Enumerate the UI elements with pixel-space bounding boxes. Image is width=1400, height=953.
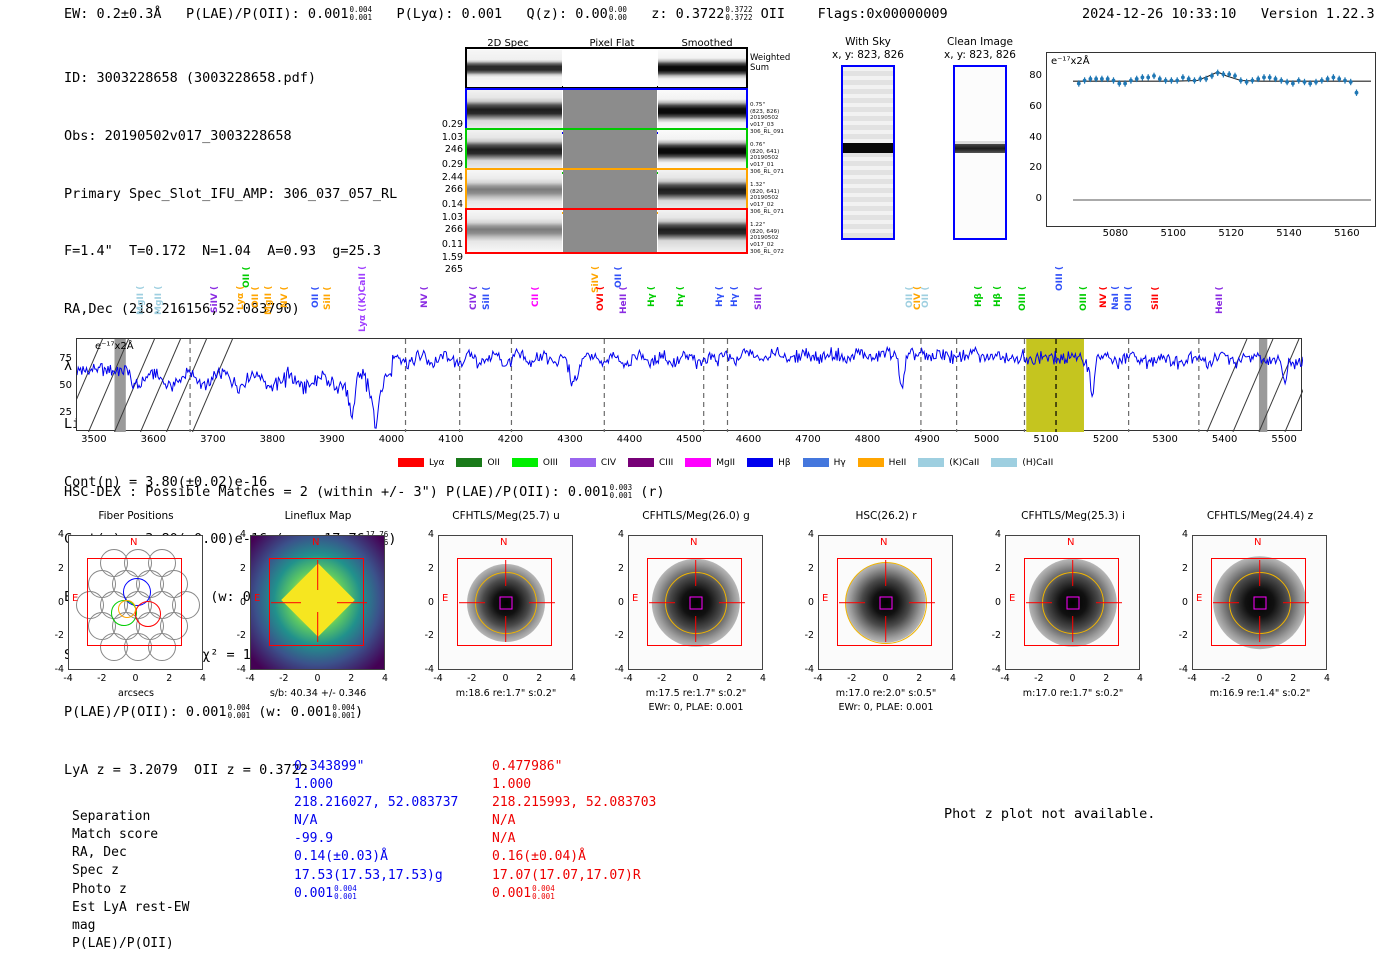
legend-swatch xyxy=(456,458,482,467)
spectrum-line-label: OIII ( xyxy=(1079,286,1089,336)
cutout-image-0[interactable] xyxy=(68,535,203,670)
header-plae: P(LAE)/P(OII): 0.001 xyxy=(186,6,349,22)
cutout-xtick: 4 xyxy=(559,673,587,684)
cutout-xtick: 2 xyxy=(1279,673,1307,684)
match-row-value: -99.9 xyxy=(294,830,458,848)
cutout-ytick: -4 xyxy=(228,664,246,675)
legend-label: Hγ xyxy=(834,458,846,468)
cutout-xtick: 0 xyxy=(492,673,520,684)
fiber-panel-4 xyxy=(465,208,748,254)
cutout-ytick: -4 xyxy=(606,664,624,675)
spectrum-ytick: 25 xyxy=(50,407,72,418)
spectrum-line-label: MgII ( xyxy=(264,286,274,336)
cutout-caption-1: arcsecs xyxy=(43,688,229,699)
match-row-value: N/A xyxy=(492,830,656,848)
legend-label: MgII xyxy=(716,458,735,468)
spectrum-line-label: MgII ( xyxy=(136,286,146,336)
mini-ytick: 0 xyxy=(1020,193,1042,204)
cutout-xtick: -2 xyxy=(88,673,116,684)
cutout-xtick: 0 xyxy=(1246,673,1274,684)
match-table: SeparationMatch scoreRA, DecSpec zPhoto … xyxy=(72,772,80,844)
spectrum-line-label: OII ( xyxy=(251,286,261,336)
spectrum-line-label: NaI ( xyxy=(1111,286,1121,336)
cleanimage-title: Clean Image xyxy=(930,36,1030,48)
match-row-label: Photo z xyxy=(72,881,292,899)
compass-north: N xyxy=(500,537,507,548)
cutout-xtick: 4 xyxy=(371,673,399,684)
spectrum-line-label: CII ( xyxy=(531,286,541,336)
cutout-ytick: -4 xyxy=(796,664,814,675)
cutout-xtick: 0 xyxy=(304,673,332,684)
legend-swatch xyxy=(628,458,654,467)
hscdex-line: HSC-DEX : Possible Matches = 2 (within +… xyxy=(64,484,665,500)
header-timestamp-version: 2024-12-26 10:33:10 Version 1.22.3 xyxy=(1082,6,1375,22)
legend-item: HeII xyxy=(858,458,907,468)
cleanimage-coords: x, y: 823, 826 xyxy=(930,49,1030,61)
cutout-xtick: 0 xyxy=(682,673,710,684)
spectrum-line-label: NV ( xyxy=(280,286,290,336)
spectrum-xtick: 3500 xyxy=(74,434,114,445)
cutout-xtick: -2 xyxy=(458,673,486,684)
cutout-ytick: 2 xyxy=(1170,563,1188,574)
compass-east: E xyxy=(1009,593,1015,604)
spectrum-ytick: 50 xyxy=(50,380,72,391)
spectrum-xtick: 5000 xyxy=(967,434,1007,445)
cutout-ytick: 0 xyxy=(46,597,64,608)
cutout-xtick: 4 xyxy=(939,673,967,684)
cutout-xtick: 2 xyxy=(1092,673,1120,684)
cutout-title: CFHTLS/Meg(25.3) i xyxy=(983,510,1163,522)
cutout-ytick: -2 xyxy=(796,630,814,641)
match-row-value: N/A xyxy=(492,812,656,830)
mini-ytick: 80 xyxy=(1020,70,1042,81)
match-table-labels: SeparationMatch scoreRA, DecSpec zPhoto … xyxy=(72,808,292,953)
legend-swatch xyxy=(858,458,884,467)
cutout-xtick: 2 xyxy=(905,673,933,684)
cutout-xtick: 4 xyxy=(1126,673,1154,684)
cutout-title: CFHTLS/Meg(26.0) g xyxy=(606,510,786,522)
cutout-image-3[interactable] xyxy=(628,535,763,670)
legend-label: CIII xyxy=(659,458,673,468)
version-label: Version 1.22.3 xyxy=(1261,6,1375,22)
spectrum-line-label: Hβ ( xyxy=(974,286,984,336)
info-primary-spec: Primary Spec_Slot_IFU_AMP: 306_037_057_R… xyxy=(64,185,397,204)
cutout-ytick: -4 xyxy=(416,664,434,675)
spectrum-xtick: 4900 xyxy=(907,434,947,445)
spectrum-line-label: SiII ( xyxy=(754,286,764,336)
match-row-label: Match score xyxy=(72,826,292,844)
compass-east: E xyxy=(254,593,260,604)
legend-label: OII xyxy=(487,458,499,468)
header-qz-errors: 0.000.00 xyxy=(609,6,627,22)
cutout-ytick: 4 xyxy=(228,529,246,540)
cutout-title: Fiber Positions xyxy=(46,510,226,522)
mini-ytick: 20 xyxy=(1020,162,1042,173)
match-row-value: 218.215993, 52.083703 xyxy=(492,794,656,812)
spectrum-ytick: 75 xyxy=(50,353,72,364)
legend-label: Hβ xyxy=(778,458,791,468)
spectrum-xtick: 4000 xyxy=(371,434,411,445)
spectrum-line-label: SiIV ( xyxy=(210,286,220,336)
legend-item: (K)CaII xyxy=(918,458,979,468)
match-row-value: 0.0010.0040.001 xyxy=(492,885,656,903)
cutout-ytick: 0 xyxy=(1170,597,1188,608)
match-row-value: 0.343899" xyxy=(294,758,458,776)
match-row-value: 218.216027, 52.083737 xyxy=(294,794,458,812)
cutout-ytick: 0 xyxy=(983,597,1001,608)
mini-xtick: 5120 xyxy=(1214,228,1248,239)
legend-swatch xyxy=(991,458,1017,467)
spectrum-line-label: Hβ ( xyxy=(993,286,1003,336)
cutout-ytick: 0 xyxy=(228,597,246,608)
cutout-title: CFHTLS/Meg(25.7) u xyxy=(416,510,596,522)
spectrum-line-label: Hγ ( xyxy=(730,286,740,336)
withsky-coords: x, y: 823, 826 xyxy=(820,49,916,61)
mini-ytick: 60 xyxy=(1020,101,1042,112)
spectrum-line-label: OIII ( xyxy=(1055,266,1065,336)
cutout-ytick: 2 xyxy=(983,563,1001,574)
spectrum-line-label: OIII ( xyxy=(1018,286,1028,336)
spectrum-legend: LyαOIIOIIICIVCIIIMgIIHβHγHeII(K)CaII(H)C… xyxy=(398,452,1065,471)
cutout-ytick: 2 xyxy=(796,563,814,574)
mini-ytick: 40 xyxy=(1020,132,1042,143)
cutout-ytick: 0 xyxy=(796,597,814,608)
cutout-ytick: -2 xyxy=(606,630,624,641)
cutout-ytick: -4 xyxy=(46,664,64,675)
spectrum-line-label: CIV ( xyxy=(469,286,479,336)
compass-north: N xyxy=(312,537,319,548)
header-summary-line: EW: 0.2±0.3Å P(LAE)/P(OII): 0.0010.0040.… xyxy=(64,6,948,22)
spectrum-xtick: 4300 xyxy=(550,434,590,445)
spectrum-line-label: SiII ( xyxy=(482,286,492,336)
cutout-ytick: -2 xyxy=(1170,630,1188,641)
legend-label: HeII xyxy=(889,458,907,468)
cutout-caption-1: m:16.9 re:1.4" s:0.2" xyxy=(1167,688,1353,699)
cutout-ytick: 4 xyxy=(796,529,814,540)
cutout-xtick: -2 xyxy=(1212,673,1240,684)
match-row-value: 0.16(±0.04)Å xyxy=(492,848,656,866)
cutout-ytick: 2 xyxy=(46,563,64,574)
legend-label: CIV xyxy=(601,458,616,468)
spectrum-xtick: 4200 xyxy=(490,434,530,445)
cutout-image-2[interactable] xyxy=(438,535,573,670)
compass-east: E xyxy=(72,593,78,604)
spectrum-line-label: OII ( xyxy=(921,286,931,336)
info-plae: P(LAE)/P(OII): 0.0010.0040.001 (w: 0.001… xyxy=(64,703,397,722)
compass-east: E xyxy=(1196,593,1202,604)
line-profile-chart: e⁻¹⁷x2Å xyxy=(1046,52,1376,227)
spectrum-line-label: OVI ( xyxy=(596,286,606,336)
legend-swatch xyxy=(685,458,711,467)
cutout-caption-1: m:17.5 re:1.7" s:0.2" xyxy=(603,688,789,699)
spectrum-xtick: 3600 xyxy=(133,434,173,445)
fiber-4-numbers: 0.111.59265 xyxy=(435,214,463,277)
match-table-blue-column: 0.343899"1.000218.216027, 52.083737N/A-9… xyxy=(294,758,458,903)
cutout-ytick: 0 xyxy=(416,597,434,608)
match-row-label: Est LyA rest-EW xyxy=(72,899,292,917)
match-row-value: 17.07(17.07,17.07)R xyxy=(492,867,656,885)
weighted-sum-label: WeightedSum xyxy=(750,53,790,73)
match-row-label: P(LAE)/P(OII) xyxy=(72,935,292,953)
legend-swatch xyxy=(747,458,773,467)
fiber-4-side-label: 1.22"(820, 649)20190502v017_02306_RL_072 xyxy=(750,209,784,255)
legend-item: Lyα xyxy=(398,458,444,468)
match-row-value: 0.0010.0040.001 xyxy=(294,885,458,903)
info-obs: Obs: 20190502v017_3003228658 xyxy=(64,127,397,146)
cutout-ytick: -2 xyxy=(983,630,1001,641)
header-plya: P(Lyα): 0.001 xyxy=(396,6,502,22)
header-flags: Flags:0x00000009 xyxy=(818,6,948,22)
legend-label: (K)CaII xyxy=(949,458,979,468)
info-radec: RA,Dec (218.216156,52.083790) xyxy=(64,300,397,319)
spectrum-line-label: MgII ( xyxy=(154,286,164,336)
legend-swatch xyxy=(918,458,944,467)
legend-item: OII xyxy=(456,458,499,468)
match-row-value: 1.000 xyxy=(492,776,656,794)
legend-item: CIII xyxy=(628,458,673,468)
compass-east: E xyxy=(442,593,448,604)
legend-swatch xyxy=(398,458,424,467)
cutout-ytick: 4 xyxy=(606,529,624,540)
cutout-caption-1: m:17.0 re:2.0" s:0.5" xyxy=(793,688,979,699)
timestamp: 2024-12-26 10:33:10 xyxy=(1082,6,1236,22)
compass-north: N xyxy=(130,537,137,548)
compass-north: N xyxy=(1254,537,1261,548)
cutout-ytick: 2 xyxy=(228,563,246,574)
cutout-ytick: -4 xyxy=(1170,664,1188,675)
withsky-image xyxy=(841,65,895,240)
match-row-label: Separation xyxy=(72,808,292,826)
legend-item: MgII xyxy=(685,458,735,468)
cutout-caption-2: EWr: 0, PLAE: 0.001 xyxy=(603,702,789,713)
withsky-title: With Sky xyxy=(820,36,916,48)
cutout-ytick: 4 xyxy=(416,529,434,540)
legend-label: (H)CaII xyxy=(1022,458,1053,468)
cutout-ytick: -2 xyxy=(416,630,434,641)
cutout-xtick: 2 xyxy=(337,673,365,684)
legend-label: OIII xyxy=(543,458,558,468)
header-ztype: OII xyxy=(761,6,785,22)
match-row-value: 17.53(17.53,17.53)g xyxy=(294,867,458,885)
spectrum-xtick: 4700 xyxy=(788,434,828,445)
legend-swatch xyxy=(570,458,596,467)
legend-item: Hβ xyxy=(747,458,791,468)
legend-item: OIII xyxy=(512,458,558,468)
spectrum-line-label: Hγ ( xyxy=(647,286,657,336)
cutout-image-4[interactable] xyxy=(818,535,953,670)
spectrum-xtick: 5100 xyxy=(1026,434,1066,445)
cutout-caption-1: m:17.0 re:1.7" s:0.2" xyxy=(980,688,1166,699)
spectrum-line-label: HeII ( xyxy=(619,286,629,336)
photoz-note: Phot z plot not available. xyxy=(944,806,1155,822)
info-id: ID: 3003228658 (3003228658.pdf) xyxy=(64,69,397,88)
spectrum-xtick: 5300 xyxy=(1145,434,1185,445)
spectrum-xtick: 4100 xyxy=(431,434,471,445)
header-plae-errors: 0.0040.001 xyxy=(350,6,373,22)
cutout-ytick: -4 xyxy=(983,664,1001,675)
spectrum-xtick: 5400 xyxy=(1205,434,1245,445)
match-table-red-column: 0.477986"1.000218.215993, 52.083703N/AN/… xyxy=(492,758,656,903)
cutout-xtick: 0 xyxy=(122,673,150,684)
spectrum-line-label: NV ( xyxy=(420,286,430,336)
match-row-value: N/A xyxy=(294,812,458,830)
cutout-title: Lineflux Map xyxy=(228,510,408,522)
spectrum-line-label: OII ( xyxy=(311,286,321,336)
cutout-xtick: -2 xyxy=(270,673,298,684)
legend-item: (H)CaII xyxy=(991,458,1053,468)
cutout-ytick: 4 xyxy=(46,529,64,540)
header-z-errors: 0.37220.3722 xyxy=(725,6,752,22)
mini-chart-ylabel: e⁻¹⁷x2Å xyxy=(1051,56,1090,67)
spectrum-line-label: Hγ ( xyxy=(715,286,725,336)
full-spectrum-chart xyxy=(76,338,1302,431)
match-row-label: Spec z xyxy=(72,862,292,880)
cutout-caption-1: s/b: 40.34 +/- 0.346 xyxy=(225,688,411,699)
cutout-title: CFHTLS/Meg(24.4) z xyxy=(1170,510,1350,522)
cutout-ytick: 4 xyxy=(1170,529,1188,540)
mini-xtick: 5160 xyxy=(1330,228,1364,239)
cutout-image-1[interactable] xyxy=(250,535,385,670)
legend-swatch xyxy=(803,458,829,467)
cutout-xtick: 0 xyxy=(1059,673,1087,684)
cutout-xtick: 2 xyxy=(715,673,743,684)
spectrum-line-label: Lyα ((K)CaII ( xyxy=(358,266,368,336)
cutout-ytick: -2 xyxy=(46,630,64,641)
spectrum-xtick: 3800 xyxy=(252,434,292,445)
cutout-xtick: 2 xyxy=(525,673,553,684)
match-row-label: RA, Dec xyxy=(72,844,292,862)
weighted-sum-row xyxy=(465,47,748,88)
cutout-ytick: 4 xyxy=(983,529,1001,540)
spectrum-xtick: 3700 xyxy=(193,434,233,445)
spectrum-xtick: 4500 xyxy=(669,434,709,445)
mini-xtick: 5100 xyxy=(1156,228,1190,239)
spectrum-line-label: NV ( xyxy=(1099,286,1109,336)
spectrum-ylabel: e⁻¹⁷x2Å xyxy=(95,341,134,352)
legend-item: Hγ xyxy=(803,458,846,468)
legend-label: Lyα xyxy=(429,458,444,468)
spectrum-xtick: 5200 xyxy=(1086,434,1126,445)
header-z: z: 0.3722 xyxy=(651,6,724,22)
compass-east: E xyxy=(822,593,828,604)
cutout-ytick: 2 xyxy=(606,563,624,574)
cutout-xtick: 4 xyxy=(1313,673,1341,684)
spectrum-line-label: SiII ( xyxy=(1151,286,1161,336)
spectrum-line-label: Hγ ( xyxy=(676,286,686,336)
compass-north: N xyxy=(1067,537,1074,548)
spectrum-line-label: HeII ( xyxy=(1215,286,1225,336)
info-seeing: F=1.4" T=0.172 N=1.04 A=0.93 g=25.3 xyxy=(64,242,397,261)
cutout-image-5[interactable] xyxy=(1005,535,1140,670)
cutout-ytick: 0 xyxy=(606,597,624,608)
compass-north: N xyxy=(880,537,887,548)
spectrum-line-label: Lyα ( xyxy=(236,286,246,336)
cutout-xtick: 0 xyxy=(872,673,900,684)
cutout-caption-2: EWr: 0, PLAE: 0.001 xyxy=(793,702,979,713)
cutout-image-6[interactable] xyxy=(1192,535,1327,670)
spectrum-xtick: 4400 xyxy=(609,434,649,445)
mini-xtick: 5140 xyxy=(1272,228,1306,239)
spectrum-xtick: 3900 xyxy=(312,434,352,445)
cutout-xtick: 4 xyxy=(749,673,777,684)
cutout-ytick: 2 xyxy=(416,563,434,574)
spectrum-xtick: 4600 xyxy=(729,434,769,445)
header-ew: EW: 0.2±0.3Å xyxy=(64,6,162,22)
cutout-xtick: 4 xyxy=(189,673,217,684)
compass-north: N xyxy=(690,537,697,548)
header-qz: Q(z): 0.00 xyxy=(527,6,608,22)
legend-swatch xyxy=(512,458,538,467)
cutout-caption-1: m:18.6 re:1.7" s:0.2" xyxy=(413,688,599,699)
cutout-title: HSC(26.2) r xyxy=(796,510,976,522)
mini-xtick: 5080 xyxy=(1098,228,1132,239)
legend-item: CIV xyxy=(570,458,616,468)
spectrum-line-label: SiII ( xyxy=(323,286,333,336)
cutout-ytick: -2 xyxy=(228,630,246,641)
match-row-value: 0.477986" xyxy=(492,758,656,776)
cutout-xtick: -2 xyxy=(838,673,866,684)
cutout-xtick: 2 xyxy=(155,673,183,684)
match-row-label: mag xyxy=(72,917,292,935)
cutout-xtick: -2 xyxy=(1025,673,1053,684)
spectrum-xtick: 5500 xyxy=(1264,434,1304,445)
match-row-value: 0.14(±0.03)Å xyxy=(294,848,458,866)
compass-east: E xyxy=(632,593,638,604)
spectrum-xtick: 4800 xyxy=(848,434,888,445)
spectrum-line-label: OIII ( xyxy=(1124,286,1134,336)
cleanimage-image xyxy=(953,65,1007,240)
cutout-xtick: -2 xyxy=(648,673,676,684)
match-row-value: 1.000 xyxy=(294,776,458,794)
